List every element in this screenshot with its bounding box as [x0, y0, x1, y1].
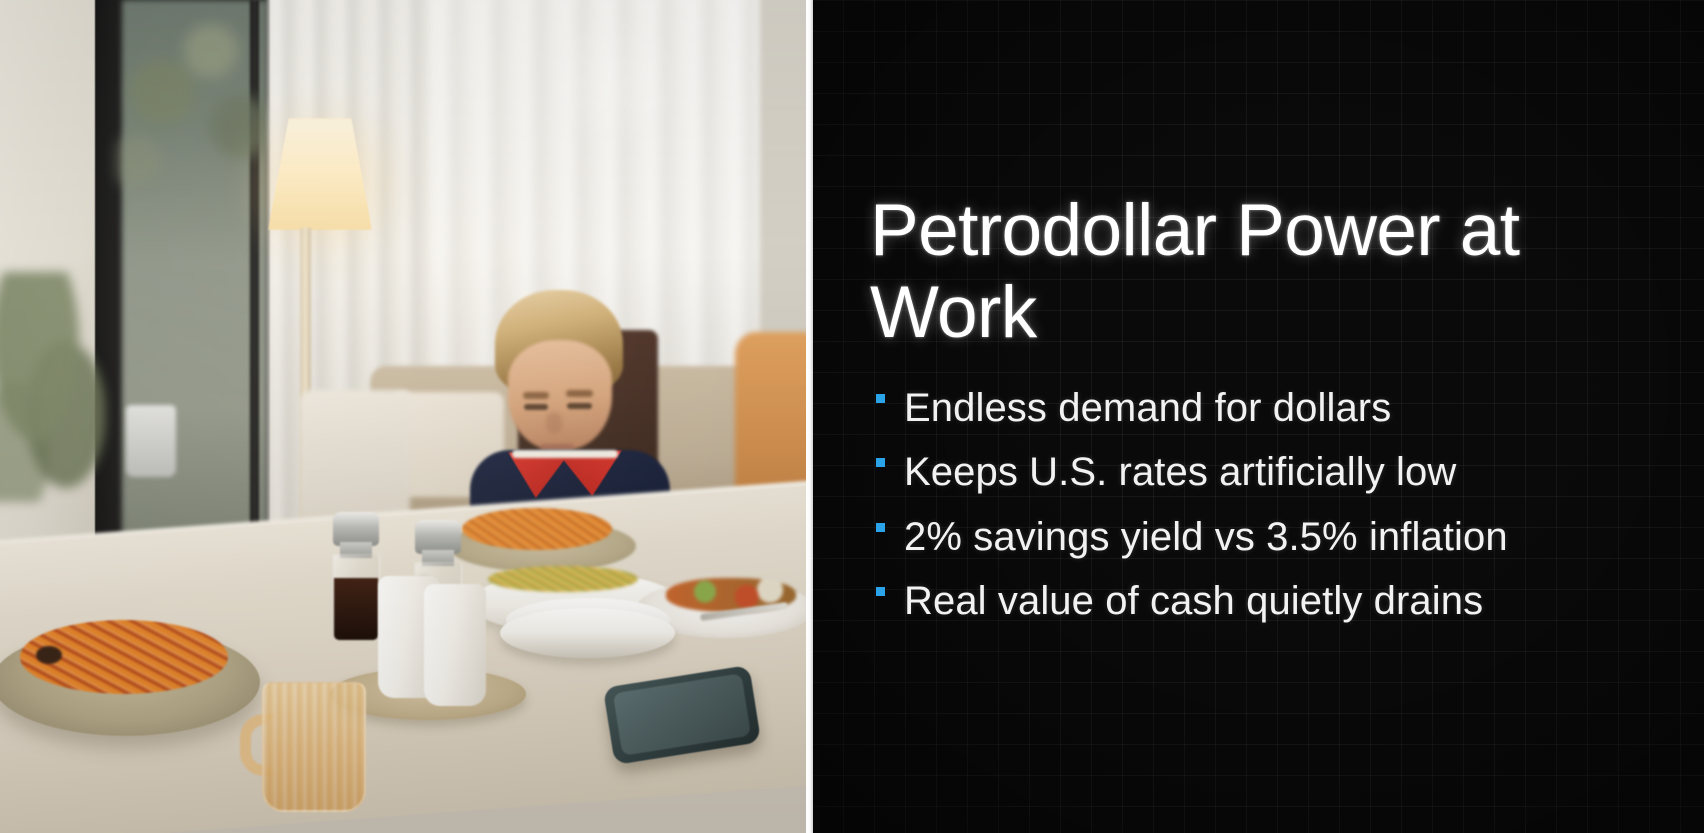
- boy-nose: [546, 412, 562, 434]
- bullet-list: Endless demand for dollars Keeps U.S. ra…: [874, 385, 1654, 625]
- ceiling-light-glow: [520, 20, 700, 140]
- bullet-item: Real value of cash quietly drains: [874, 578, 1654, 624]
- boy-eyebrow-right: [566, 390, 593, 397]
- pepper-shaker: [424, 584, 486, 706]
- outdoor-bin: [126, 405, 176, 477]
- bullet-text: 2% savings yield vs 3.5% inflation: [904, 515, 1508, 559]
- bullet-item: 2% savings yield vs 3.5% inflation: [874, 514, 1654, 560]
- boy-eyebrow-left: [523, 392, 549, 399]
- boy-collar-trim: [512, 450, 618, 458]
- bottle-liquid: [334, 578, 378, 640]
- square-bullet-icon: [876, 523, 885, 532]
- boy-pasta: [462, 508, 612, 550]
- boy-eye-left: [524, 404, 548, 410]
- phone-screen: [613, 673, 751, 756]
- stacked-plates: [500, 608, 675, 658]
- bullet-item: Endless demand for dollars: [874, 385, 1654, 431]
- panel-divider: [806, 0, 813, 833]
- bowl-contents: [488, 566, 638, 592]
- square-bullet-icon: [876, 458, 885, 467]
- slide: Petrodollar Power at Work Endless demand…: [0, 0, 1704, 833]
- bottle-cap: [333, 512, 379, 546]
- square-bullet-icon: [876, 587, 885, 596]
- bullet-item: Keeps U.S. rates artificially low: [874, 449, 1654, 495]
- bullet-text: Real value of cash quietly drains: [904, 579, 1483, 623]
- photo-pane: [0, 0, 812, 833]
- spaghetti-olive: [36, 646, 62, 664]
- soy-sauce-bottle-left: [330, 512, 382, 640]
- slide-title: Petrodollar Power at Work: [870, 190, 1630, 354]
- bullet-text: Keeps U.S. rates artificially low: [904, 450, 1456, 494]
- square-bullet-icon: [876, 394, 885, 403]
- amber-glass-mug: [262, 682, 366, 812]
- content-pane: Petrodollar Power at Work Endless demand…: [812, 0, 1704, 833]
- boy-eye-right: [567, 403, 592, 409]
- content-inner: Petrodollar Power at Work Endless demand…: [870, 0, 1660, 833]
- bullet-text: Endless demand for dollars: [904, 386, 1391, 430]
- bottle-cap: [415, 520, 461, 554]
- houseplant: [0, 272, 106, 502]
- dinner-table-photo: [0, 0, 812, 833]
